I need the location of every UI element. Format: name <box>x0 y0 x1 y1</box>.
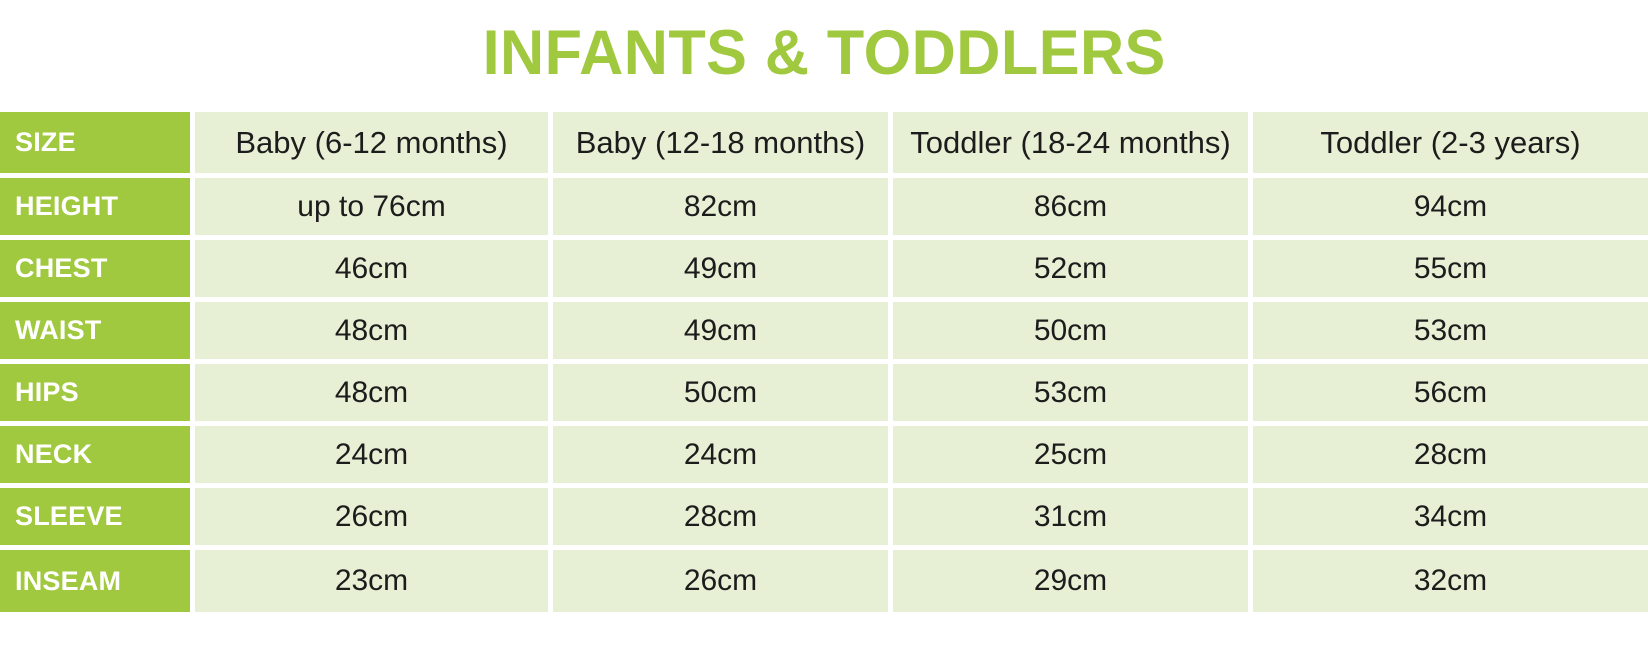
header-corner-size-label: SIZE <box>0 112 195 178</box>
column-header-baby-12-18-months: Baby (12-18 months) <box>553 112 893 178</box>
cell-inseam-baby-6-12-months: 23cm <box>195 550 553 612</box>
cell-chest-baby-12-18-months: 49cm <box>553 240 893 302</box>
cell-height-toddler-2-3-years: 94cm <box>1253 178 1648 240</box>
cell-neck-baby-12-18-months: 24cm <box>553 426 893 488</box>
column-header-baby-6-12-months: Baby (6-12 months) <box>195 112 553 178</box>
table-header-row: SIZE Baby (6-12 months) Baby (12-18 mont… <box>0 112 1648 178</box>
table-row-height: HEIGHT up to 76cm 82cm 86cm 94cm <box>0 178 1648 240</box>
cell-neck-toddler-2-3-years: 28cm <box>1253 426 1648 488</box>
cell-sleeve-toddler-18-24-months: 31cm <box>893 488 1253 550</box>
cell-inseam-toddler-2-3-years: 32cm <box>1253 550 1648 612</box>
row-label-hips: HIPS <box>0 364 195 426</box>
table-row-neck: NECK 24cm 24cm 25cm 28cm <box>0 426 1648 488</box>
table-body: SIZE Baby (6-12 months) Baby (12-18 mont… <box>0 112 1648 612</box>
cell-sleeve-baby-12-18-months: 28cm <box>553 488 893 550</box>
table-row-inseam: INSEAM 23cm 26cm 29cm 32cm <box>0 550 1648 612</box>
cell-sleeve-toddler-2-3-years: 34cm <box>1253 488 1648 550</box>
cell-height-baby-6-12-months: up to 76cm <box>195 178 553 240</box>
table-row-hips: HIPS 48cm 50cm 53cm 56cm <box>0 364 1648 426</box>
title-container: INFANTS & TODDLERS <box>0 0 1648 112</box>
row-label-neck: NECK <box>0 426 195 488</box>
cell-hips-baby-6-12-months: 48cm <box>195 364 553 426</box>
cell-sleeve-baby-6-12-months: 26cm <box>195 488 553 550</box>
row-label-inseam: INSEAM <box>0 550 195 612</box>
cell-waist-baby-12-18-months: 49cm <box>553 302 893 364</box>
cell-inseam-toddler-18-24-months: 29cm <box>893 550 1253 612</box>
cell-inseam-baby-12-18-months: 26cm <box>553 550 893 612</box>
table-row-waist: WAIST 48cm 49cm 50cm 53cm <box>0 302 1648 364</box>
cell-chest-toddler-18-24-months: 52cm <box>893 240 1253 302</box>
cell-neck-baby-6-12-months: 24cm <box>195 426 553 488</box>
cell-chest-toddler-2-3-years: 55cm <box>1253 240 1648 302</box>
cell-hips-toddler-18-24-months: 53cm <box>893 364 1253 426</box>
column-header-toddler-2-3-years: Toddler (2-3 years) <box>1253 112 1648 178</box>
row-label-height: HEIGHT <box>0 178 195 240</box>
cell-waist-toddler-2-3-years: 53cm <box>1253 302 1648 364</box>
table-row-chest: CHEST 46cm 49cm 52cm 55cm <box>0 240 1648 302</box>
cell-neck-toddler-18-24-months: 25cm <box>893 426 1253 488</box>
row-label-chest: CHEST <box>0 240 195 302</box>
table-row-sleeve: SLEEVE 26cm 28cm 31cm 34cm <box>0 488 1648 550</box>
cell-waist-toddler-18-24-months: 50cm <box>893 302 1253 364</box>
cell-height-toddler-18-24-months: 86cm <box>893 178 1253 240</box>
cell-hips-toddler-2-3-years: 56cm <box>1253 364 1648 426</box>
row-label-sleeve: SLEEVE <box>0 488 195 550</box>
cell-hips-baby-12-18-months: 50cm <box>553 364 893 426</box>
column-header-toddler-18-24-months: Toddler (18-24 months) <box>893 112 1253 178</box>
size-chart-page: INFANTS & TODDLERS SIZE Baby (6-12 month… <box>0 0 1648 645</box>
cell-chest-baby-6-12-months: 46cm <box>195 240 553 302</box>
row-label-waist: WAIST <box>0 302 195 364</box>
size-chart-table: SIZE Baby (6-12 months) Baby (12-18 mont… <box>0 112 1648 612</box>
cell-height-baby-12-18-months: 82cm <box>553 178 893 240</box>
cell-waist-baby-6-12-months: 48cm <box>195 302 553 364</box>
page-title: INFANTS & TODDLERS <box>482 22 1165 85</box>
